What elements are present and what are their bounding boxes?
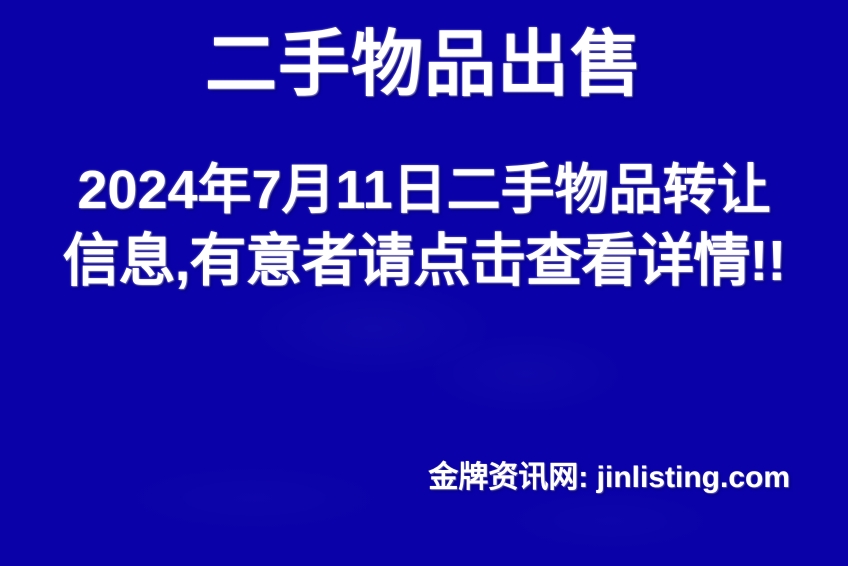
banner-subtitle-line-2: 信息,有意者请点击查看详情!! xyxy=(0,225,848,298)
banner-subtitle: 2024年7月11日二手物品转让 信息,有意者请点击查看详情!! xyxy=(0,156,848,298)
promo-banner: 二手物品出售 2024年7月11日二手物品转让 信息,有意者请点击查看详情!! … xyxy=(0,0,848,566)
banner-subtitle-line-1: 2024年7月11日二手物品转让 xyxy=(0,156,848,225)
site-attribution: 金牌资讯网: jinlisting.com xyxy=(428,452,790,496)
banner-title: 二手物品出售 xyxy=(0,26,848,105)
